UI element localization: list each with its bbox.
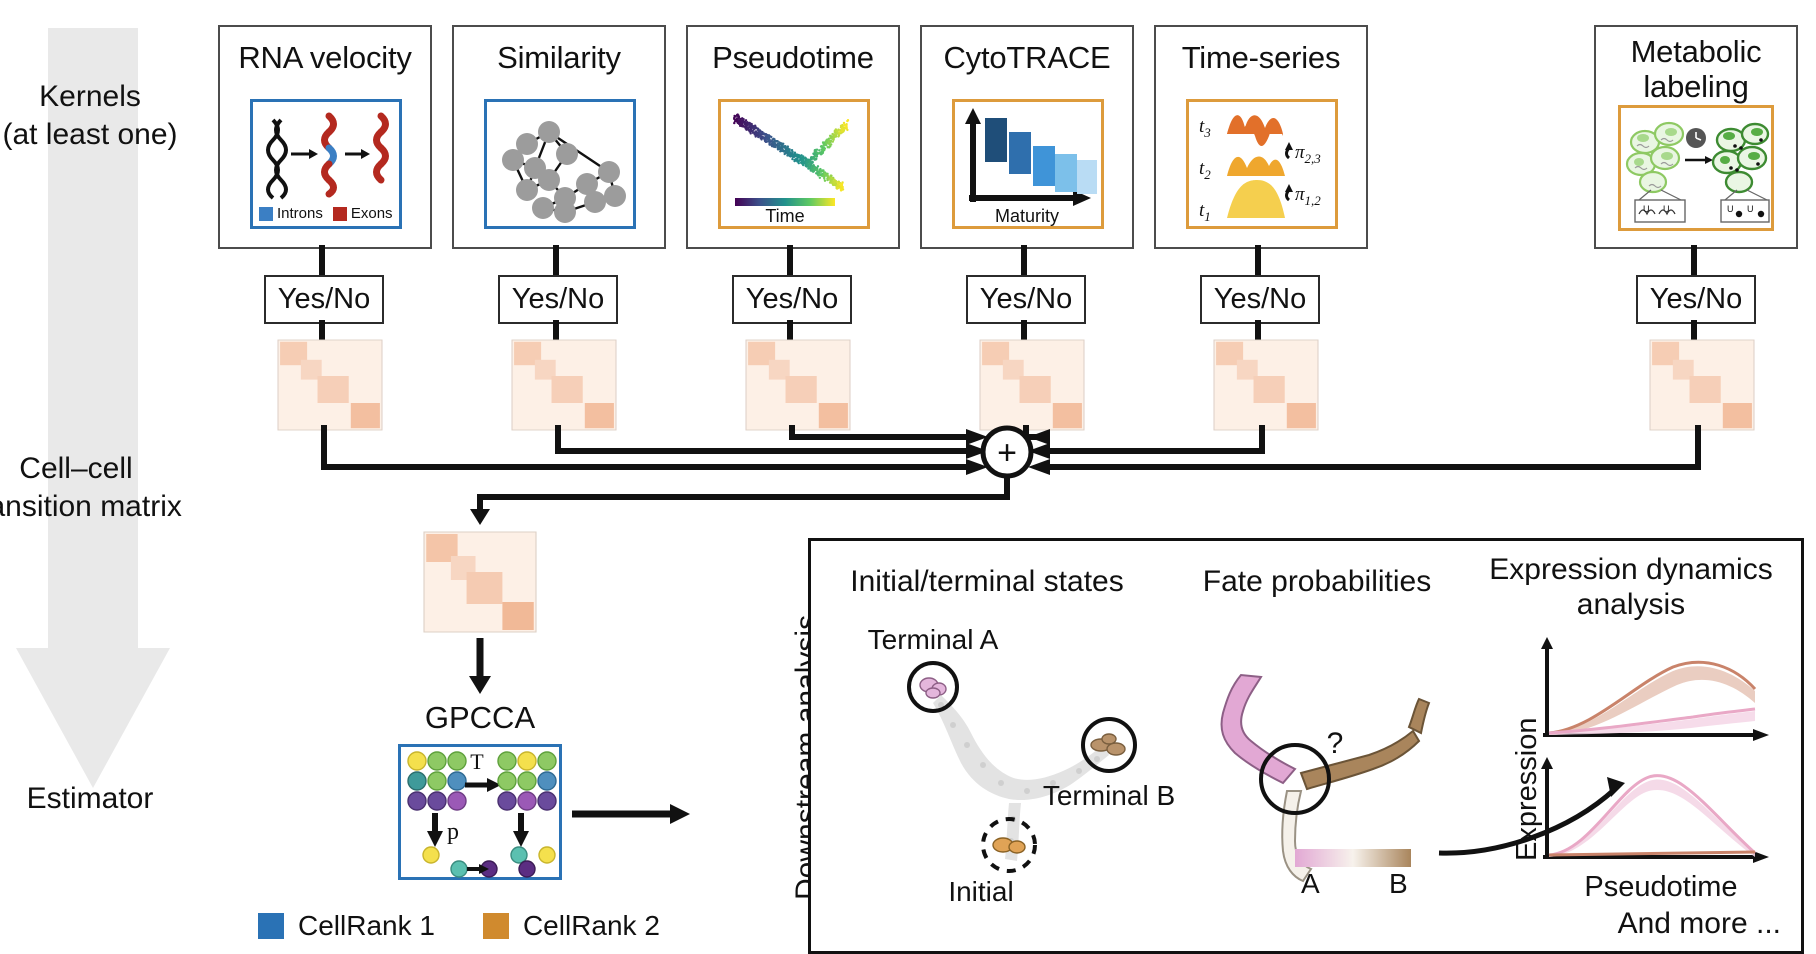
kernel-card-time-series[interactable]: Time-series t3 t2 t1 π2,3 π1,2 (1154, 25, 1368, 249)
transition-matrix-similarity (512, 340, 616, 430)
arrow-gpcca-to-downstream (572, 800, 702, 830)
decision-label-metabolic-labeling: Yes/No (1650, 283, 1742, 316)
kernel-card-pseudotime[interactable]: Pseudotime Time (686, 25, 900, 249)
stage-label-estimator-line1: Estimator (0, 780, 210, 818)
expression-dynamics-xlabel: Pseudotime (1531, 871, 1791, 904)
annotation-initial: Initial (948, 876, 1013, 907)
summation-routing: + (0, 425, 1816, 520)
downstream-title-fate-probabilities: Fate probabilities (1167, 565, 1467, 600)
decision-label-time-series: Yes/No (1214, 283, 1306, 316)
kernel-illustration-cytotrace: Maturity (952, 99, 1104, 229)
downstream-footer-text: And more ... (1618, 907, 1781, 940)
stage-label-estimator: Estimator (0, 780, 210, 818)
decision-box-metabolic-labeling[interactable]: Yes/No (1636, 275, 1756, 324)
kernel-title-similarity: Similarity (454, 41, 664, 76)
expression-xlabel-text: Pseudotime (1584, 871, 1737, 903)
connector-pseudotime-to-decision (787, 245, 793, 275)
connector-rna-velocity-to-decision (319, 245, 325, 275)
expression-dynamics-title-line1: Expression dynamics (1471, 553, 1791, 588)
kernel-title-metabolic-labeling: Metabolic labeling (1600, 35, 1792, 104)
annotation-terminal-b: Terminal B (1043, 780, 1175, 811)
fate-colorbar-label-a: A (1301, 868, 1320, 899)
estimator-name-label: GPCCA (425, 700, 535, 735)
cytotrace-axis-label: Maturity (995, 206, 1059, 226)
connector-cytotrace-to-decision (1021, 245, 1027, 275)
decision-box-cytotrace[interactable]: Yes/No (966, 275, 1086, 324)
legend-swatch-cellrank-1 (258, 913, 284, 939)
kernel-illustration-metabolic-labeling: U U U U (1618, 105, 1774, 231)
decision-box-similarity[interactable]: Yes/No (498, 275, 618, 324)
transition-matrix-time-series (1214, 340, 1318, 430)
decision-box-pseudotime[interactable]: Yes/No (732, 275, 852, 324)
connector-similarity-to-decision (553, 245, 559, 275)
decision-box-time-series[interactable]: Yes/No (1200, 275, 1320, 324)
transition-matrix-cytotrace (980, 340, 1084, 430)
stage-label-kernels: Kernels (at least one) (0, 78, 210, 153)
svg-text:t3: t3 (1199, 116, 1211, 140)
kernel-card-similarity[interactable]: Similarity (452, 25, 666, 249)
arrow-matrix-to-gpcca (468, 638, 492, 694)
downstream-title-expression-dynamics: Expression dynamics analysis (1471, 553, 1791, 622)
kernel-card-metabolic-labeling[interactable]: Metabolic labeling (1594, 25, 1798, 249)
svg-text:t2: t2 (1199, 158, 1211, 182)
decision-label-rna-velocity: Yes/No (278, 283, 370, 316)
combined-transition-matrix (424, 532, 536, 632)
downstream-analysis-panel[interactable]: Initial/terminal states Terminal A Termi… (808, 538, 1804, 954)
connector-metabolic-to-decision (1691, 245, 1697, 275)
legend-swatch-cellrank-2 (483, 913, 509, 939)
expression-dynamics-title-line2: analysis (1471, 588, 1791, 623)
kernel-title-pseudotime: Pseudotime (688, 41, 898, 76)
legend-label-cellrank-1: CellRank 1 (298, 910, 435, 942)
kernel-illustration-similarity (484, 99, 636, 229)
svg-text:t1: t1 (1199, 200, 1211, 224)
kernel-illustration-rna-velocity: Introns Exons (250, 99, 402, 229)
legend-label-cellrank-2: CellRank 2 (523, 910, 660, 942)
stage-label-kernels-line2: (at least one) (0, 116, 210, 154)
svg-text:U: U (1747, 204, 1754, 214)
kernel-card-rna-velocity[interactable]: RNA velocity Introns Exons (218, 25, 432, 249)
fate-colorbar-label-b: B (1389, 868, 1408, 899)
introns-legend-label: Introns (277, 205, 323, 222)
estimator-title-gpcca: GPCCA (380, 700, 580, 736)
annotation-terminal-a: Terminal A (868, 624, 999, 655)
connector-time-series-to-decision (1255, 245, 1261, 275)
introns-legend-swatch (259, 207, 273, 221)
estimator-illustration-gpcca[interactable]: T p (398, 744, 562, 880)
figure-legend: CellRank 1 CellRank 2 (258, 910, 660, 942)
transition-matrix-pseudotime (746, 340, 850, 430)
summation-symbol: + (997, 434, 1017, 472)
pseudotime-colorbar-label: Time (765, 206, 804, 226)
decision-label-similarity: Yes/No (512, 283, 604, 316)
kernel-title-rna-velocity: RNA velocity (220, 41, 430, 76)
decision-label-pseudotime: Yes/No (746, 283, 838, 316)
decision-box-rna-velocity[interactable]: Yes/No (264, 275, 384, 324)
svg-text:U: U (1727, 204, 1734, 214)
kernel-illustration-time-series: t3 t2 t1 π2,3 π1,2 (1186, 99, 1338, 229)
kernel-card-cytotrace[interactable]: CytoTRACE Maturity (920, 25, 1134, 249)
kernel-title-time-series: Time-series (1156, 41, 1366, 76)
expression-dynamics-charts (1533, 637, 1783, 867)
gpcca-transition-symbol: T (470, 749, 484, 774)
kernel-title-cytotrace: CytoTRACE (922, 41, 1132, 76)
downstream-footer-and-more: And more ... (1618, 907, 1781, 941)
gpcca-projection-symbol: p (447, 819, 459, 845)
transition-matrix-metabolic-labeling (1650, 340, 1754, 430)
kernel-illustration-pseudotime: Time (718, 99, 870, 229)
svg-text:U: U (1643, 204, 1650, 214)
downstream-title-initial-terminal-states: Initial/terminal states (827, 565, 1147, 600)
svg-text:π1,2: π1,2 (1295, 184, 1321, 208)
decision-label-cytotrace: Yes/No (980, 283, 1072, 316)
transition-matrix-rna-velocity (278, 340, 382, 430)
stage-label-kernels-line1: Kernels (0, 78, 210, 116)
fate-question-mark: ? (1327, 727, 1344, 760)
svg-text:π2,3: π2,3 (1295, 142, 1321, 166)
exons-legend-label: Exons (351, 205, 393, 222)
exons-legend-swatch (333, 207, 347, 221)
initial-terminal-states-embedding: Terminal A Terminal B Initial (841, 613, 1171, 903)
fate-probabilities-embedding: ? A B (1183, 641, 1483, 901)
